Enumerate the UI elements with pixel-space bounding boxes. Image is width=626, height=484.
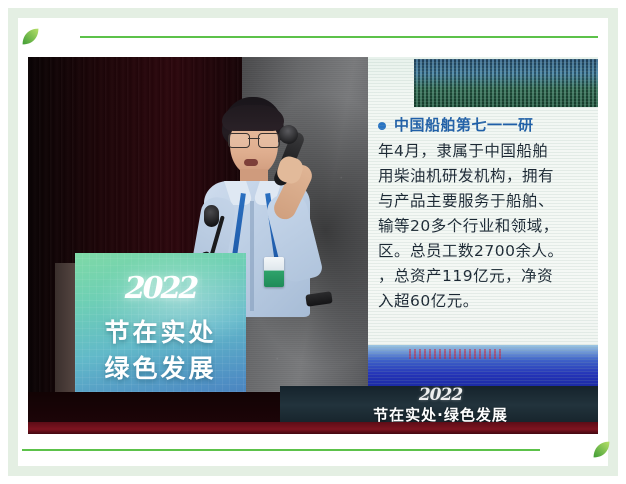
leaf-icon [592,440,611,459]
slide-line: ，总资产119亿元，净资 [378,264,598,289]
speaker-fringe [222,105,284,131]
slide-line: 与产品主要服务于船舶、 [378,189,598,214]
leaf-icon [21,27,40,46]
slide-line: 年4月，隶属于中国船舶 [378,139,598,164]
glasses-lens-right [258,133,280,148]
slide-line: 入超60亿元。 [378,289,598,314]
shirt-placket [250,201,254,311]
slide-line: 输等20多个行业和领域， [378,214,598,239]
stage-banner-logo: 2022 [283,386,598,404]
podium-title-line1: 节在实处 [75,315,246,351]
slide-heading-text: 中国船舶第七一一研 [394,116,534,134]
slide-header-image [414,59,598,107]
slide-text-block: 中国船舶第七一一研 年4月，隶属于中国船舶 用柴油机研发机构，拥有 与产品主要服… [378,113,598,314]
stage-left-shadow [28,392,280,422]
podium-title-line2: 绿色发展 [75,351,246,387]
glasses-icon [228,133,280,146]
slide-footer-image [368,345,598,387]
podium-microphone-icon [204,205,219,227]
stage-floor [28,422,598,434]
speaker-mouth [244,159,258,166]
projection-screen: 中国船舶第七一一研 年4月，隶属于中国船舶 用柴油机研发机构，拥有 与产品主要服… [368,57,598,387]
podium-year-logo: 2022 [75,271,246,306]
bullet-dot-icon [378,122,386,130]
divider-bottom [22,449,540,451]
conference-photo: 中国船舶第七一一研 年4月，隶属于中国船舶 用柴油机研发机构，拥有 与产品主要服… [28,57,598,434]
slide-line: 区。总员工数2700余人。 [378,239,598,264]
slide-bullet-heading: 中国船舶第七一一研 [378,113,598,138]
page-root: 中国船舶第七一一研 年4月，隶属于中国船舶 用柴油机研发机构，拥有 与产品主要服… [0,0,626,484]
podium-title: 节在实处 绿色发展 [75,315,246,387]
divider-top [80,36,598,38]
name-badge [264,257,284,287]
slide-line: 用柴油机研发机构，拥有 [378,164,598,189]
glasses-lens-left [228,133,250,148]
